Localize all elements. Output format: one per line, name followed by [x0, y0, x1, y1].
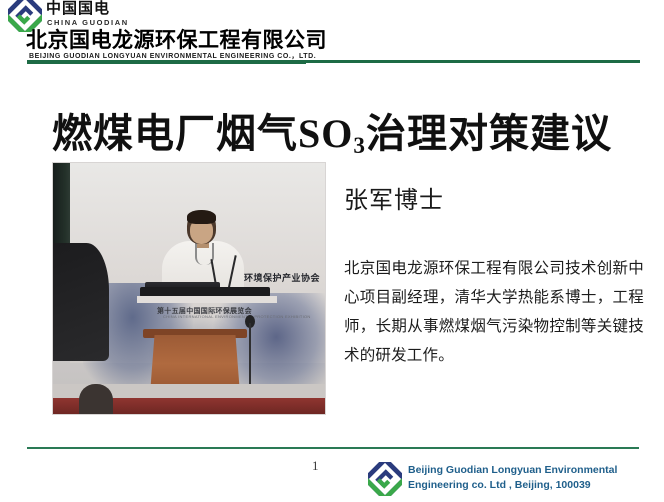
header-divider-thin — [305, 60, 640, 63]
guodian-diamond-logo-icon — [8, 0, 42, 32]
page-title: 燃煤电厂烟气SO3治理对策建议 — [0, 110, 664, 164]
photo-speaker-hair — [187, 210, 216, 224]
footer-divider — [27, 447, 639, 449]
footer-guodian-diamond-logo-icon — [368, 462, 402, 496]
page-number: 1 — [312, 458, 319, 474]
photo-foreground-person — [79, 384, 113, 414]
photo-dark-panel — [53, 243, 109, 361]
photo-backdrop-event-en: CHINA INTERNATIONAL ENVIRONMENTAL PROTEC… — [163, 314, 311, 319]
slide-canvas: 中国国电 CHINA GUODIAN 北京国电龙源环保工程有限公司 BEIJIN… — [0, 0, 664, 502]
photo-podium-shelf — [137, 296, 277, 303]
speaker-name: 张军博士 — [344, 180, 444, 215]
footer-line-1: Beijing Guodian Longyuan Environmental — [408, 463, 658, 478]
speaker-photo: 中国环境保护产业协会 第十五届中国国际环保展览会 CHINA INTERNATI… — [53, 163, 325, 414]
speaker-bio: 北京国电龙源环保工程有限公司技术创新中心项目副经理，清华大学热能系博士，工程师，… — [344, 254, 644, 370]
company-name-cn: 北京国电龙源环保工程有限公司 — [26, 29, 327, 53]
title-formula-main: SO — [298, 111, 353, 156]
title-formula-subscript: 3 — [353, 133, 366, 159]
header-divider-thick — [27, 60, 306, 64]
slide-header: 中国国电 CHINA GUODIAN 北京国电龙源环保工程有限公司 BEIJIN… — [0, 0, 664, 66]
footer-company-address: Beijing Guodian Longyuan Environmental E… — [408, 463, 658, 493]
title-part-1: 燃煤电厂烟气 — [52, 112, 298, 156]
group-name-en: CHINA GUODIAN — [47, 18, 129, 27]
title-part-2: 治理对策建议 — [366, 112, 612, 156]
photo-floor-microphone-stand — [249, 323, 251, 393]
footer-line-2: Engineering co. Ltd , Beijing, 100039 — [408, 478, 658, 493]
group-name-cn: 中国国电 — [46, 1, 110, 17]
